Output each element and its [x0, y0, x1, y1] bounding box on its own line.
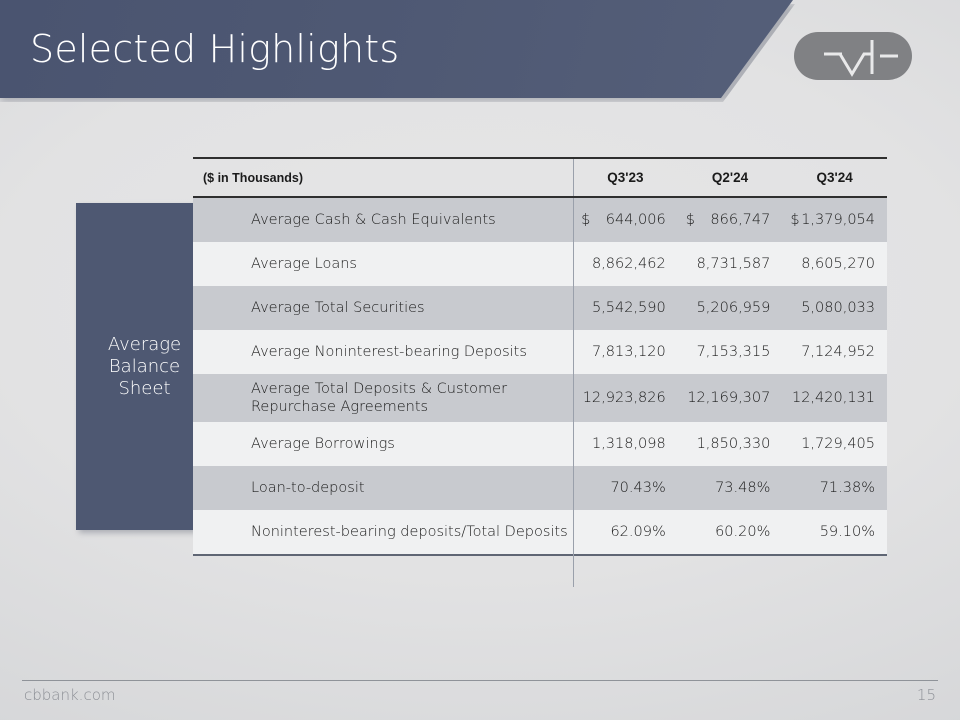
row-label: Noninterest-bearing deposits/Total Depos… — [193, 510, 573, 554]
row-value-q2-24: 12,169,307 — [678, 374, 783, 422]
column-header-q3-23: Q3'23 — [573, 159, 678, 196]
row-label: Average Loans — [193, 242, 573, 286]
callout-label: Average Balance Sheet — [108, 334, 181, 400]
value-text: 1,379,054 — [801, 212, 875, 228]
row-value-q3-23: 1,318,098 — [573, 422, 678, 466]
table-row: Average Cash & Cash Equivalents $644,006… — [193, 198, 887, 242]
row-value-q3-24: 8,605,270 — [782, 242, 887, 286]
row-label: Loan-to-deposit — [193, 466, 573, 510]
table-header-row: ($ in Thousands) Q3'23 Q2'24 Q3'24 — [193, 159, 887, 196]
row-value-q2-24: 5,206,959 — [678, 286, 783, 330]
row-label: Average Total Securities — [193, 286, 573, 330]
row-label: Average Noninterest-bearing Deposits — [193, 330, 573, 374]
row-label: Average Borrowings — [193, 422, 573, 466]
row-value-q3-23: 8,862,462 — [573, 242, 678, 286]
financial-table: ($ in Thousands) Q3'23 Q2'24 Q3'24 A — [193, 157, 887, 556]
row-value-q3-23: 5,542,590 — [573, 286, 678, 330]
column-divider — [573, 198, 574, 587]
currency-symbol: $ — [782, 212, 799, 228]
row-value-q2-24: 8,731,587 — [678, 242, 783, 286]
row-value-q3-23: 7,813,120 — [573, 330, 678, 374]
header-column-divider — [573, 159, 574, 196]
row-label: Average Total Deposits & Customer Repurc… — [193, 374, 573, 422]
row-value-q3-24: 71.38% — [782, 466, 887, 510]
row-value-q3-24: 5,080,033 — [782, 286, 887, 330]
row-value-q3-24: 59.10% — [782, 510, 887, 554]
value-text: 644,006 — [606, 212, 666, 228]
value-text: 866,747 — [710, 212, 770, 228]
currency-symbol: $ — [573, 212, 590, 228]
table-row: Average Total Deposits & Customer Repurc… — [193, 374, 887, 422]
table-body: ($ in Thousands) Q3'23 Q2'24 Q3'24 — [193, 159, 887, 196]
slide-canvas: Selected Highlights Average Balance Shee… — [0, 0, 960, 720]
page-number: 15 — [917, 686, 936, 704]
row-value-q3-24: 7,124,952 — [782, 330, 887, 374]
column-header-q2-24: Q2'24 — [678, 159, 783, 196]
currency-symbol: $ — [678, 212, 695, 228]
table-row: Average Total Securities 5,542,590 5,206… — [193, 286, 887, 330]
row-value-q3-24: 1,729,405 — [782, 422, 887, 466]
row-value-q3-24: 12,420,131 — [782, 374, 887, 422]
row-value-q2-24: $866,747 — [678, 198, 783, 242]
row-value-q3-23: 62.09% — [573, 510, 678, 554]
row-value-q3-23: 12,923,826 — [573, 374, 678, 422]
table-rows: Average Cash & Cash Equivalents $644,006… — [193, 198, 887, 554]
row-value-q2-24: 7,153,315 — [678, 330, 783, 374]
row-value-q3-24: $1,379,054 — [782, 198, 887, 242]
row-value-q2-24: 1,850,330 — [678, 422, 783, 466]
row-value-q3-23: 70.43% — [573, 466, 678, 510]
table-row: Loan-to-deposit 70.43% 73.48% 71.38% — [193, 466, 887, 510]
table-row: Average Borrowings 1,318,098 1,850,330 1… — [193, 422, 887, 466]
table-row: Noninterest-bearing deposits/Total Depos… — [193, 510, 887, 554]
units-label: ($ in Thousands) — [193, 159, 573, 196]
table-row: Average Noninterest-bearing Deposits 7,8… — [193, 330, 887, 374]
cvb-logo-icon — [794, 32, 912, 80]
column-header-q3-24: Q3'24 — [782, 159, 887, 196]
footer-divider — [22, 680, 938, 681]
table-bottom-rule — [193, 554, 887, 556]
table-row: Average Loans 8,862,462 8,731,587 8,605,… — [193, 242, 887, 286]
row-value-q2-24: 73.48% — [678, 466, 783, 510]
row-label: Average Cash & Cash Equivalents — [193, 198, 573, 242]
footer-website[interactable]: cbbank.com — [24, 686, 115, 704]
page-title: Selected Highlights — [30, 27, 399, 71]
row-value-q3-23: $644,006 — [573, 198, 678, 242]
row-value-q2-24: 60.20% — [678, 510, 783, 554]
